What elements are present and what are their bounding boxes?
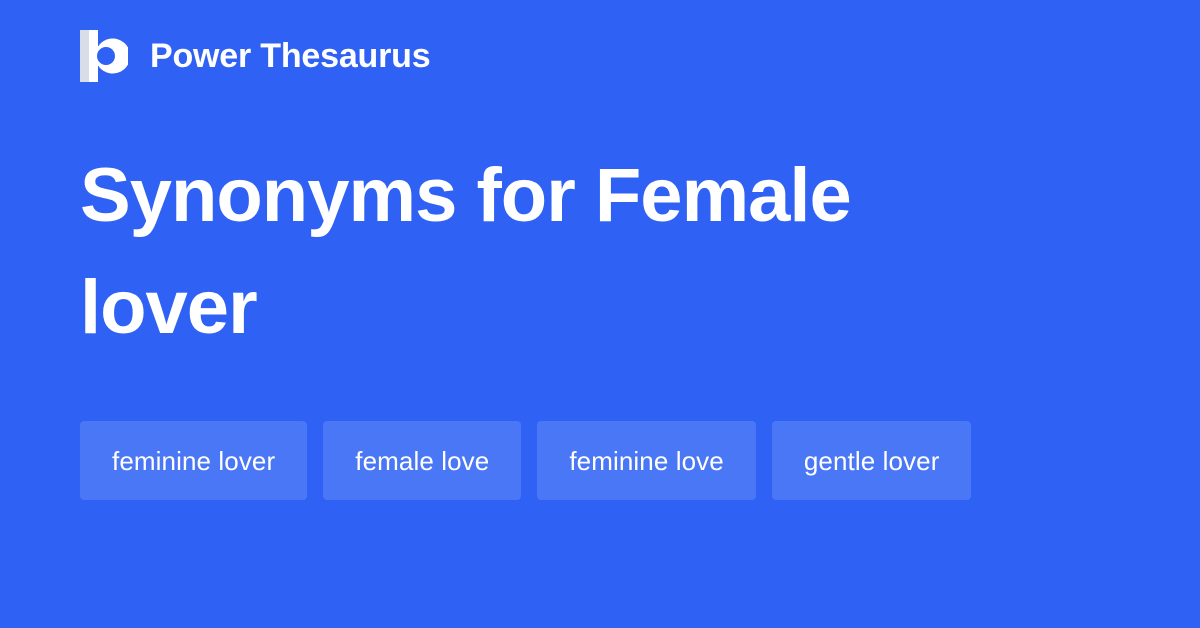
synonym-chip[interactable]: gentle lover: [772, 421, 972, 500]
power-thesaurus-b-logo-icon: [80, 30, 128, 82]
thesaurus-share-card: Power Thesaurus Synonyms for Female love…: [0, 0, 1200, 628]
synonym-chip[interactable]: feminine lover: [80, 421, 307, 500]
page-title: Synonyms for Female lover: [80, 140, 1120, 364]
synonym-chip-list: feminine lover female love feminine love…: [80, 421, 1120, 500]
brand-name: Power Thesaurus: [150, 39, 430, 73]
page-title-line-1: Synonyms for Female: [80, 140, 1120, 252]
synonym-chip[interactable]: female love: [323, 421, 521, 500]
brand-header[interactable]: Power Thesaurus: [80, 28, 430, 84]
page-title-line-2: lover: [80, 252, 1120, 364]
synonym-chip[interactable]: feminine love: [537, 421, 756, 500]
